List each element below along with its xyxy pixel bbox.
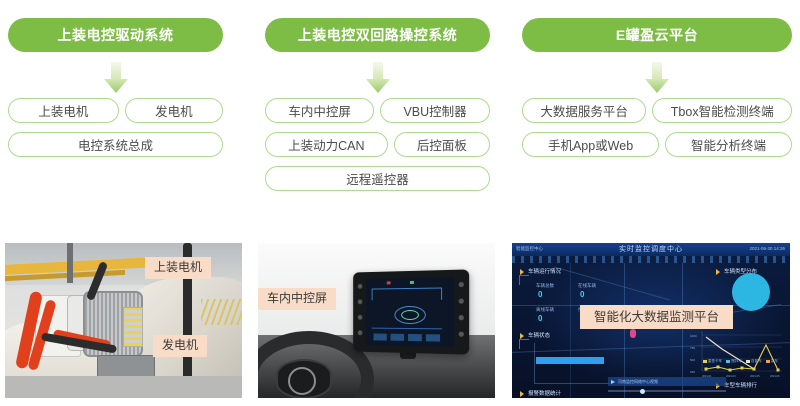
dashboard-title: 实时监控调度中心 [512, 244, 790, 254]
stat-label: 在线车辆 [578, 283, 596, 289]
panel-marker-icon [716, 269, 720, 275]
play-icon[interactable] [611, 380, 615, 384]
pill-rows-2: 大数据服务平台 Tbox智能检测终端 手机App或Web 智能分析终端 [522, 98, 792, 166]
legend-item: 搅拌车 [726, 359, 742, 364]
legend-item: 重型卡车 [703, 359, 722, 364]
photo-tag: 上装电机 [145, 257, 211, 279]
pill-item[interactable]: 上装电机 [8, 98, 119, 123]
map-pin-icon [630, 329, 636, 338]
down-arrow-icon [644, 62, 670, 94]
player-label: 河南监控网络中心视频 [618, 379, 658, 385]
stat-label: 车辆总数 [536, 283, 554, 289]
down-arrow-icon [365, 62, 391, 94]
pill-row: 上装动力CAN 后控面板 [265, 132, 490, 157]
pill-row: 手机App或Web 智能分析终端 [522, 132, 792, 157]
pill-item[interactable]: 手机App或Web [522, 132, 659, 157]
pill-item[interactable]: 上装动力CAN [265, 132, 388, 157]
pill-row: 电控系统总成 [8, 132, 223, 157]
pill-item[interactable]: 电控系统总成 [8, 132, 223, 157]
pill-item[interactable]: Tbox智能检测终端 [652, 98, 792, 123]
column-header-dual-loop-control: 上装电控双回路操控系统 [265, 18, 490, 52]
svg-text:2021-05: 2021-05 [750, 374, 760, 378]
legend-item: 自卸车 [746, 359, 762, 364]
panel-title-vehicle-status: 车辆状态 [528, 331, 550, 339]
panel-title-model-ranking: 车型车辆排行 [724, 381, 757, 389]
pill-item[interactable]: 后控面板 [394, 132, 490, 157]
photo-tag: 车内中控屏 [258, 288, 336, 310]
pill-rows-0: 上装电机 发电机 电控系统总成 [8, 98, 223, 166]
pill-row: 车内中控屏 VBU控制器 [265, 98, 490, 123]
svg-text:250: 250 [690, 370, 695, 374]
pill-item[interactable]: VBU控制器 [380, 98, 490, 123]
player-handle[interactable] [640, 389, 645, 394]
stat-value: 0 [580, 290, 584, 299]
down-arrow-icon [103, 62, 129, 94]
pill-row: 大数据服务平台 Tbox智能检测终端 [522, 98, 792, 123]
pie-chart [732, 273, 770, 311]
cab-display-photo: 车内中控屏 [258, 243, 495, 398]
infographic-canvas: 上装电控驱动系统 上装电机 发电机 电控系统总成 上装电控双回路操控系统 [0, 0, 800, 406]
stat-label: 离线车辆 [536, 307, 554, 313]
pill-row: 上装电机 发电机 [8, 98, 223, 123]
pill-item[interactable]: 车内中控屏 [265, 98, 374, 123]
pill-item[interactable]: 大数据服务平台 [522, 98, 646, 123]
stat-value: 0 [538, 314, 542, 323]
pill-item[interactable]: 远程遥控器 [265, 166, 490, 191]
panel-marker-icon [520, 391, 524, 397]
panel-title-alarm-stats: 报警数据统计 [528, 389, 561, 397]
column-header-drive-system: 上装电控驱动系统 [8, 18, 223, 52]
player-track[interactable] [608, 390, 726, 392]
pill-item[interactable]: 发电机 [125, 98, 223, 123]
photo-content [258, 243, 495, 398]
svg-text:2021-03: 2021-03 [726, 374, 736, 378]
legend-item: 泵车 [766, 359, 778, 364]
mixer-truck-motor-photo: 上装电机 发电机 [5, 243, 242, 398]
chart-legend: 重型卡车 搅拌车 自卸车 泵车 [703, 359, 778, 364]
monitoring-dashboard-photo: 智能监控中心 实时监控调度中心 2021-06-30 14:26 车辆运行情况 … [512, 243, 790, 398]
svg-text:750: 750 [690, 346, 695, 350]
pill-row: 远程遥控器 [265, 166, 490, 191]
dashboard-timestamp: 2021-06-30 14:26 [749, 246, 785, 251]
line-chart: 1000750 500250 2021-012021-03 2021-05202… [688, 329, 784, 381]
column-header-cloud-platform: E罐盈云平台 [522, 18, 792, 52]
svg-text:1000: 1000 [690, 334, 697, 338]
svg-text:2021-06: 2021-06 [770, 374, 780, 378]
pill-item[interactable]: 智能分析终端 [665, 132, 792, 157]
stat-value: 0 [538, 290, 542, 299]
photo-tag: 发电机 [153, 335, 207, 357]
arrow-wrap-2 [522, 62, 792, 94]
panel-title-vehicle-stats: 车辆运行情况 [528, 267, 561, 275]
arrow-wrap-0 [8, 62, 223, 94]
pill-rows-1: 车内中控屏 VBU控制器 上装动力CAN 后控面板 远程遥控器 [265, 98, 490, 200]
arrow-wrap-1 [265, 62, 490, 94]
svg-text:500: 500 [690, 358, 695, 362]
photo-tag: 智能化大数据监测平台 [580, 305, 733, 329]
